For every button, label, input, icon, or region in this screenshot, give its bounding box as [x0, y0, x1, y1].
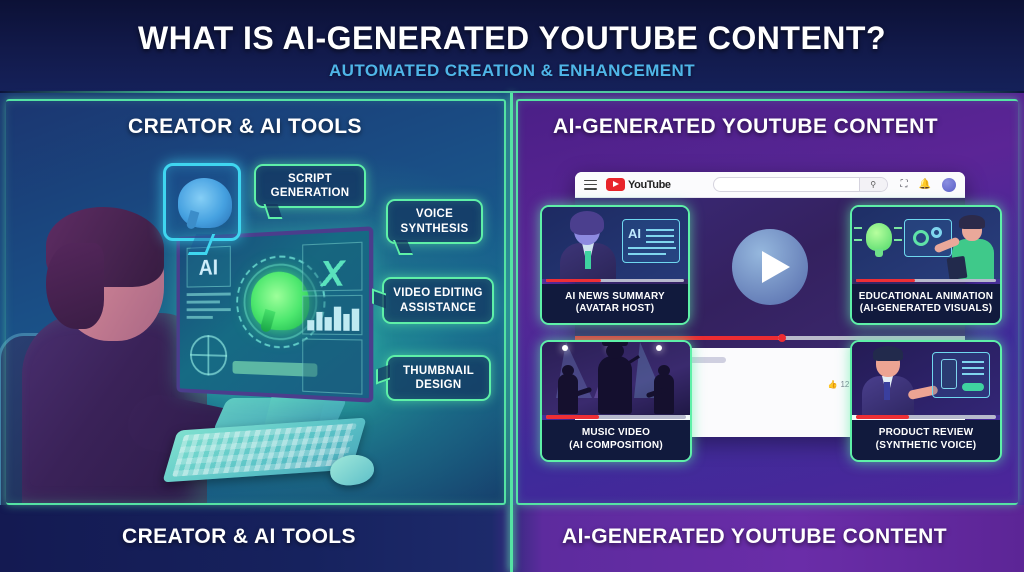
notifications-bell-icon[interactable]: 🔔 [919, 179, 931, 190]
creator-hair-side [46, 243, 104, 329]
product-spec-lines [962, 361, 984, 379]
search-icon[interactable]: ⚲ [859, 178, 887, 191]
card-progress-bar [856, 415, 996, 419]
youtube-play-badge-icon [606, 178, 625, 191]
right-panel-footer: AI-GENERATED YOUTUBE CONTENT [562, 525, 947, 549]
globe-icon [190, 335, 227, 376]
card-artwork-news-avatar: AI [542, 207, 688, 279]
content-card-music-video[interactable]: MUSIC VIDEO (AI COMPOSITION) [540, 340, 692, 462]
card-label-line2: (AI COMPOSITION) [569, 440, 663, 453]
product-cta-button [962, 383, 984, 391]
callout-line1: VOICE [416, 208, 453, 220]
callout-line2: SYNTHESIS [401, 223, 469, 235]
callout-voice-synthesis[interactable]: VOICE SYNTHESIS [386, 199, 483, 244]
bubble-ai-text: AI [628, 226, 641, 241]
left-panel-heading: CREATOR & AI TOOLS [128, 115, 362, 139]
create-video-icon[interactable]: ⛶ [901, 179, 908, 190]
card-label: AI NEWS SUMMARY (AVATAR HOST) [542, 284, 688, 323]
content-card-ai-news-summary[interactable]: AI AI NEWS SUMMARY (AVATAR HOST) [540, 205, 690, 325]
reviewer-tie [884, 382, 890, 400]
callout-line2: ASSISTANCE [400, 302, 476, 314]
infographic-canvas: WHAT IS AI-GENERATED YOUTUBE CONTENT? AU… [0, 0, 1024, 572]
line-chart-icon [307, 260, 359, 286]
avatar-tie [585, 251, 591, 269]
panel-divider [510, 93, 513, 572]
callout-thumbnail-design[interactable]: THUMBNAIL DESIGN [386, 355, 491, 401]
callout-line1: VIDEO EDITING [393, 287, 483, 299]
lightbulb-ray [894, 227, 902, 229]
search-input[interactable] [714, 178, 859, 191]
callout-tail [376, 364, 390, 384]
callout-video-editing-assistance[interactable]: VIDEO EDITING ASSISTANCE [382, 277, 494, 324]
youtube-header-actions: ⛶ 🔔 [901, 178, 956, 192]
youtube-wordmark: YouTube [628, 179, 671, 191]
reviewer-hair [873, 346, 903, 361]
screen-bars-panel [302, 295, 362, 335]
card-artwork-product-review [852, 342, 1000, 415]
screen-text-lines [187, 293, 231, 324]
gear-icon [931, 227, 942, 238]
card-progress-bar [546, 415, 686, 419]
avatar-hair [570, 211, 604, 235]
callout-script-generation[interactable]: SCRIPT GENERATION [254, 164, 366, 208]
hamburger-menu-icon[interactable] [584, 180, 597, 190]
title-band: WHAT IS AI-GENERATED YOUTUBE CONTENT? AU… [0, 0, 1024, 93]
left-panel-footer: CREATOR & AI TOOLS [122, 525, 356, 549]
brain-hologram-icon [178, 178, 232, 228]
card-label-line1: AI NEWS SUMMARY [565, 291, 665, 304]
play-button-icon[interactable] [732, 229, 808, 305]
singer-silhouette [598, 356, 632, 414]
lightbulb-icon [866, 223, 892, 251]
youtube-header-bar: YouTube ⚲ ⛶ 🔔 [575, 172, 965, 198]
card-label-line1: PRODUCT REVIEW [879, 427, 973, 440]
gears-display-screen [904, 219, 952, 257]
smartphone-icon [941, 359, 957, 389]
gear-icon [913, 230, 929, 246]
card-progress-bar [856, 279, 996, 283]
content-card-educational-animation[interactable]: EDUCATIONAL ANIMATION (AI-GENERATED VISU… [850, 205, 1002, 325]
page-title: WHAT IS AI-GENERATED YOUTUBE CONTENT? [0, 20, 1024, 57]
card-label: EDUCATIONAL ANIMATION (AI-GENERATED VISU… [852, 284, 1000, 323]
card-label: PRODUCT REVIEW (SYNTHETIC VOICE) [852, 420, 1000, 460]
callout-line1: THUMBNAIL [403, 365, 474, 377]
screen-media-panel [302, 339, 362, 395]
bar-chart-icon [307, 303, 359, 331]
card-artwork-concert [542, 342, 690, 415]
card-progress-bar [546, 279, 684, 283]
card-label-line1: EDUCATIONAL ANIMATION [859, 291, 993, 304]
brain-icon [251, 271, 309, 331]
tablet-icon [947, 256, 968, 280]
youtube-logo[interactable]: YouTube [606, 178, 671, 191]
product-display-screen [932, 352, 990, 398]
lightbulb-ray [894, 239, 902, 241]
card-label-line2: (AVATAR HOST) [576, 303, 655, 316]
search-bar[interactable]: ⚲ [713, 177, 888, 192]
card-label-line2: (AI-GENERATED VISUALS) [860, 303, 993, 316]
lightbulb-ray [854, 227, 862, 229]
brain-hologram-bubble [163, 163, 241, 241]
callout-line1: SCRIPT [288, 173, 332, 185]
ai-speech-bubble: AI [622, 219, 680, 263]
page-subtitle: AUTOMATED CREATION & ENHANCEMENT [0, 61, 1024, 81]
card-label-line2: (SYNTHETIC VOICE) [876, 440, 977, 453]
lightbulb-ray [854, 239, 862, 241]
callout-line2: GENERATION [271, 187, 350, 199]
screen-chart-panel [302, 242, 362, 292]
card-label-line1: MUSIC VIDEO [582, 427, 650, 440]
content-card-product-review[interactable]: PRODUCT REVIEW (SYNTHETIC VOICE) [850, 340, 1002, 462]
card-artwork-educational [852, 207, 1000, 279]
card-label: MUSIC VIDEO (AI COMPOSITION) [542, 420, 690, 460]
stage-lamp [656, 345, 662, 351]
callout-line2: DESIGN [416, 379, 462, 391]
stage-lamp [562, 345, 568, 351]
right-panel-heading: AI-GENERATED YOUTUBE CONTENT [553, 115, 938, 139]
presenter-hair [959, 215, 985, 229]
account-avatar[interactable] [942, 178, 956, 192]
